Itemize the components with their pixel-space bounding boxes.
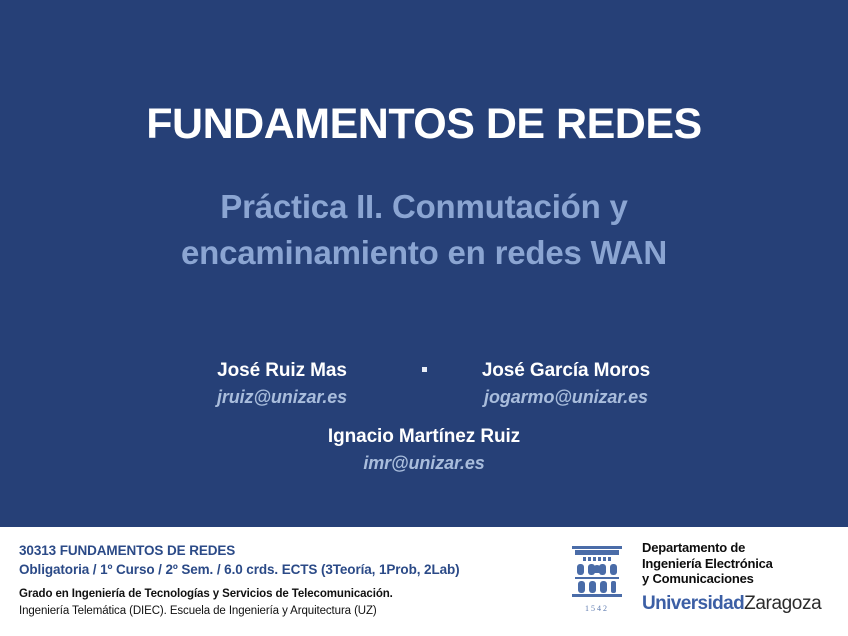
- subtitle-line-2: encaminamiento en redes WAN: [44, 230, 804, 276]
- university-crest-icon: 1542: [566, 536, 628, 613]
- author-entry-3: Ignacio Martínez Ruiz imr@unizar.es: [0, 424, 848, 476]
- authors-section: José Ruiz Mas jruiz@unizar.es José Garcí…: [0, 358, 848, 476]
- footer-course-info: 30313 FUNDAMENTOS DE REDES Obligatoria /…: [19, 541, 559, 620]
- author-entry-1: José Ruiz Mas jruiz@unizar.es: [157, 358, 407, 410]
- author-name: José García Moros: [441, 358, 691, 384]
- page-title: FUNDAMENTOS DE REDES: [0, 98, 848, 150]
- authors-row-secondary: Ignacio Martínez Ruiz imr@unizar.es: [0, 424, 848, 476]
- crest-building-icon: [566, 540, 628, 602]
- author-email[interactable]: imr@unizar.es: [0, 450, 848, 476]
- slide-footer: 30313 FUNDAMENTOS DE REDES Obligatoria /…: [0, 530, 848, 636]
- subtitle-line-1: Práctica II. Conmutación y: [44, 184, 804, 230]
- degree-line-2: Ingeniería Telemática (DIEC). Escuela de…: [19, 603, 559, 620]
- author-email[interactable]: jogarmo@unizar.es: [441, 384, 691, 410]
- department-line-3: y Comunicaciones: [642, 571, 821, 587]
- brand-text-block: Departamento de Ingeniería Electrónica y…: [628, 536, 821, 615]
- crest-founding-year: 1542: [566, 604, 628, 613]
- hero-panel: FUNDAMENTOS DE REDES Práctica II. Conmut…: [0, 0, 848, 527]
- department-line-1: Departamento de: [642, 540, 821, 556]
- wordmark-universidad: Universidad: [642, 593, 744, 614]
- dot-icon: [422, 367, 427, 372]
- author-separator-dot: [407, 358, 441, 372]
- author-name: Ignacio Martínez Ruiz: [0, 424, 848, 450]
- degree-line-1: Grado en Ingeniería de Tecnologías y Ser…: [19, 586, 559, 603]
- degree-info: Grado en Ingeniería de Tecnologías y Ser…: [19, 586, 559, 620]
- university-branding: 1542 Departamento de Ingeniería Electrón…: [566, 536, 821, 615]
- authors-row-primary: José Ruiz Mas jruiz@unizar.es José Garcí…: [0, 358, 848, 410]
- wordmark-zaragoza: Zaragoza: [744, 593, 821, 614]
- department-line-2: Ingeniería Electrónica: [642, 556, 821, 572]
- author-entry-2: José García Moros jogarmo@unizar.es: [441, 358, 691, 410]
- presentation-slide: FUNDAMENTOS DE REDES Práctica II. Conmut…: [0, 0, 848, 636]
- university-wordmark: UniversidadZaragoza: [642, 593, 821, 615]
- author-email[interactable]: jruiz@unizar.es: [157, 384, 407, 410]
- author-name: José Ruiz Mas: [157, 358, 407, 384]
- course-code-title: 30313 FUNDAMENTOS DE REDES: [19, 541, 559, 560]
- course-details: Obligatoria / 1º Curso / 2º Sem. / 6.0 c…: [19, 560, 559, 579]
- slide-subtitle: Práctica II. Conmutación y encaminamient…: [44, 184, 804, 276]
